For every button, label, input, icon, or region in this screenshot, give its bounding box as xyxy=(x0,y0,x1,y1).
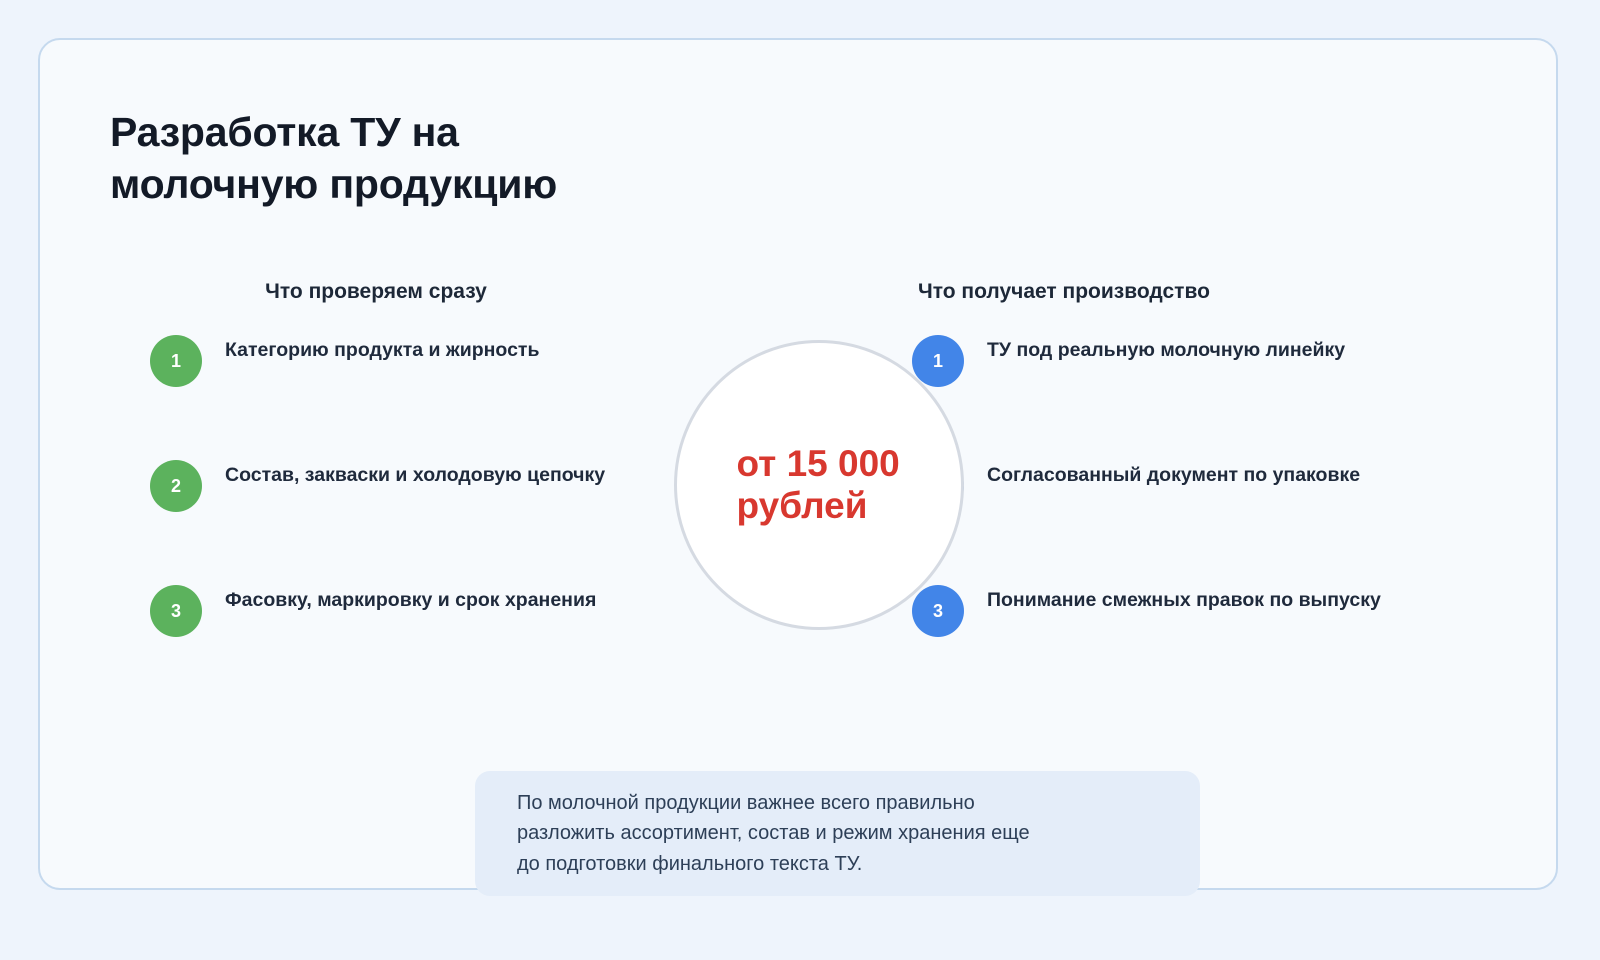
list-item: 1 Категорию продукта и жирность xyxy=(150,331,630,387)
step-number-badge: 1 xyxy=(912,335,964,387)
step-number-badge: 3 xyxy=(912,585,964,637)
infographic-stage: Разработка ТУ на молочную продукцию Что … xyxy=(0,0,1600,960)
summary-note-text: По молочной продукции важнее всего прави… xyxy=(475,788,1072,879)
list-item-label: Согласованный документ по упаковке xyxy=(987,456,1360,489)
column-checks: Что проверяем сразу 1 Категорию продукта… xyxy=(150,278,630,637)
step-number-badge: 2 xyxy=(150,460,202,512)
list-item: 3 Фасовку, маркировку и срок хранения xyxy=(150,581,630,637)
list-item-label: Фасовку, маркировку и срок хранения xyxy=(225,581,596,614)
step-number-badge: 3 xyxy=(150,585,202,637)
list-item: 2 Состав, закваски и холодовую цепочку xyxy=(150,456,630,512)
step-number-badge: 1 xyxy=(150,335,202,387)
list-item-label: Состав, закваски и холодовую цепочку xyxy=(225,456,605,489)
list-item-label: Понимание смежных правок по выпуску xyxy=(987,581,1381,614)
list-item-label: ТУ под реальную молочную линейку xyxy=(987,331,1345,364)
list-item: 1 ТУ под реальную молочную линейку xyxy=(912,331,1392,387)
column-deliverables: Что получает производство 1 ТУ под реаль… xyxy=(912,278,1392,637)
list-item: 2 Согласованный документ по упаковке xyxy=(912,456,1392,512)
column-checks-heading: Что проверяем сразу xyxy=(150,278,630,305)
list-item-label: Категорию продукта и жирность xyxy=(225,331,539,364)
page-title: Разработка ТУ на молочную продукцию xyxy=(110,106,810,211)
list-item: 3 Понимание смежных правок по выпуску xyxy=(912,581,1392,637)
summary-note: По молочной продукции важнее всего прави… xyxy=(475,771,1200,896)
price-circle: от 15 000 рублей xyxy=(674,340,964,630)
price-label: от 15 000 рублей xyxy=(737,443,902,527)
content-card: Разработка ТУ на молочную продукцию Что … xyxy=(38,38,1558,890)
column-deliverables-heading: Что получает производство xyxy=(912,278,1392,305)
